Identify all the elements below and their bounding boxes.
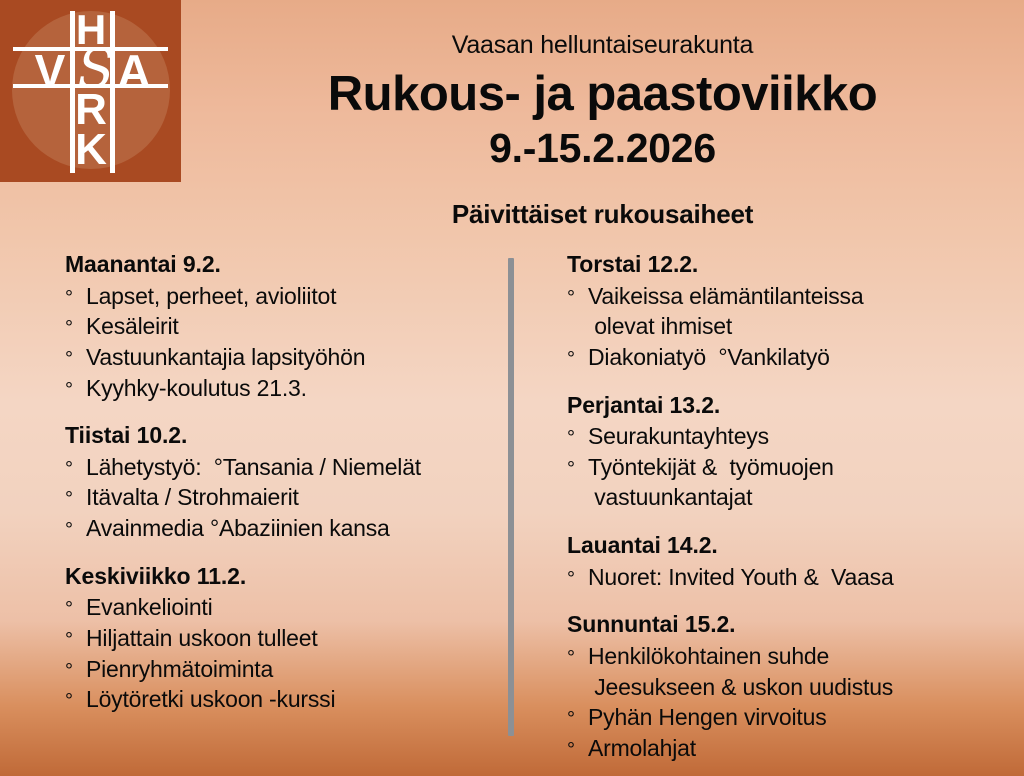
day-heading: Lauantai 14.2. [567,531,1007,560]
degree-bullet-icon: ° [567,645,588,672]
right-column: Torstai 12.2.°Vaikeissa elämäntilanteiss… [567,250,1007,763]
day-block: Lauantai 14.2.°Nuoret: Invited Youth & V… [567,531,1007,592]
list-item: °Seurakuntayhteys [567,421,1007,452]
organization-name: Vaasan helluntaiseurakunta [181,32,1024,60]
day-heading: Sunnuntai 15.2. [567,610,1007,639]
prayer-topic-list: °Nuoret: Invited Youth & Vaasa [567,562,1007,593]
prayer-topic-list: °Vaikeissa elämäntilanteissa olevat ihmi… [567,281,1007,373]
degree-bullet-icon: ° [65,486,86,513]
day-block: Sunnuntai 15.2.°Henkilökohtainen suhde J… [567,610,1007,763]
list-item: °Itävalta / Strohmaierit [65,482,495,513]
poster-canvas: H V A R K S Vaasan helluntaiseurakunta R… [0,0,1024,776]
list-item-label: Diakoniatyö °Vankilatyö [588,344,830,370]
list-item-label: Itävalta / Strohmaierit [86,484,299,510]
degree-bullet-icon: ° [567,346,588,373]
list-item: °Lapset, perheet, avioliitot [65,281,495,312]
column-divider [508,258,514,736]
list-item: °Henkilökohtainen suhde Jeesukseen & usk… [567,641,1007,702]
list-item-label: Kyyhky-koulutus 21.3. [86,375,307,401]
list-item: °Vaikeissa elämäntilanteissa olevat ihmi… [567,281,1007,342]
list-item: °Armolahjat [567,733,1007,764]
day-heading: Keskiviikko 11.2. [65,562,495,591]
list-item-label: Lähetystyö: °Tansania / Niemelät [86,454,421,480]
day-block: Torstai 12.2.°Vaikeissa elämäntilanteiss… [567,250,1007,373]
degree-bullet-icon: ° [65,285,86,312]
list-item-label: Henkilökohtainen suhde Jeesukseen & usko… [588,643,893,700]
page-title: Rukous- ja paastoviikko [181,66,1024,122]
list-item: °Evankeliointi [65,592,495,623]
logo-letter-a: A [112,48,156,94]
degree-bullet-icon: ° [567,456,588,483]
list-item-label: Nuoret: Invited Youth & Vaasa [588,564,894,590]
prayer-topic-list: °Lapset, perheet, avioliitot°Kesäleirit°… [65,281,495,403]
degree-bullet-icon: ° [567,285,588,312]
logo-letter-s: S [74,42,118,96]
degree-bullet-icon: ° [65,377,86,404]
section-subtitle: Päivittäiset rukousaiheet [181,199,1024,230]
church-logo: H V A R K S [0,0,181,182]
list-item: °Pyhän Hengen virvoitus [567,702,1007,733]
list-item-label: Kesäleirit [86,313,179,339]
logo-letter-v: V [28,48,72,94]
list-item-label: Työntekijät & työmuojen vastuunkantajat [588,454,834,511]
list-item-label: Lapset, perheet, avioliitot [86,283,336,309]
day-heading: Maanantai 9.2. [65,250,495,279]
day-heading: Torstai 12.2. [567,250,1007,279]
prayer-topic-list: °Seurakuntayhteys°Työntekijät & työmuoje… [567,421,1007,513]
degree-bullet-icon: ° [65,688,86,715]
date-range: 9.-15.2.2026 [181,126,1024,171]
list-item-label: Pienryhmätoiminta [86,656,273,682]
left-column: Maanantai 9.2.°Lapset, perheet, avioliit… [65,250,495,715]
degree-bullet-icon: ° [567,737,588,764]
day-heading: Perjantai 13.2. [567,391,1007,420]
logo-letter-k: K [70,128,112,172]
day-block: Maanantai 9.2.°Lapset, perheet, avioliit… [65,250,495,403]
day-block: Tiistai 10.2.°Lähetystyö: °Tansania / Ni… [65,421,495,544]
list-item: °Pienryhmätoiminta [65,654,495,685]
prayer-topic-list: °Evankeliointi°Hiljattain uskoon tulleet… [65,592,495,714]
day-heading: Tiistai 10.2. [65,421,495,450]
list-item: °Avainmedia °Abaziinien kansa [65,513,495,544]
degree-bullet-icon: ° [65,456,86,483]
list-item-label: Armolahjat [588,735,696,761]
list-item: °Työntekijät & työmuojen vastuunkantajat [567,452,1007,513]
list-item-label: Pyhän Hengen virvoitus [588,704,827,730]
list-item-label: Evankeliointi [86,594,213,620]
prayer-topic-list: °Henkilökohtainen suhde Jeesukseen & usk… [567,641,1007,763]
list-item-label: Löytöretki uskoon -kurssi [86,686,335,712]
list-item-label: Avainmedia °Abaziinien kansa [86,515,390,541]
prayer-topic-list: °Lähetystyö: °Tansania / Niemelät°Itäval… [65,452,495,544]
day-block: Keskiviikko 11.2.°Evankeliointi°Hiljatta… [65,562,495,715]
list-item: °Nuoret: Invited Youth & Vaasa [567,562,1007,593]
degree-bullet-icon: ° [567,425,588,452]
list-item-label: Vastuunkantajia lapsityöhön [86,344,365,370]
degree-bullet-icon: ° [567,566,588,593]
list-item: °Kesäleirit [65,311,495,342]
day-block: Perjantai 13.2.°Seurakuntayhteys°Työntek… [567,391,1007,514]
list-item-label: Vaikeissa elämäntilanteissa olevat ihmis… [588,283,863,340]
degree-bullet-icon: ° [65,658,86,685]
list-item: °Vastuunkantajia lapsityöhön [65,342,495,373]
list-item: °Lähetystyö: °Tansania / Niemelät [65,452,495,483]
list-item-label: Seurakuntayhteys [588,423,769,449]
degree-bullet-icon: ° [65,517,86,544]
degree-bullet-icon: ° [65,315,86,342]
list-item: °Löytöretki uskoon -kurssi [65,684,495,715]
list-item: °Hiljattain uskoon tulleet [65,623,495,654]
degree-bullet-icon: ° [65,627,86,654]
list-item: °Diakoniatyö °Vankilatyö [567,342,1007,373]
list-item-label: Hiljattain uskoon tulleet [86,625,318,651]
list-item: °Kyyhky-koulutus 21.3. [65,373,495,404]
poster-header: Vaasan helluntaiseurakunta Rukous- ja pa… [181,0,1024,171]
degree-bullet-icon: ° [65,346,86,373]
degree-bullet-icon: ° [567,706,588,733]
degree-bullet-icon: ° [65,596,86,623]
